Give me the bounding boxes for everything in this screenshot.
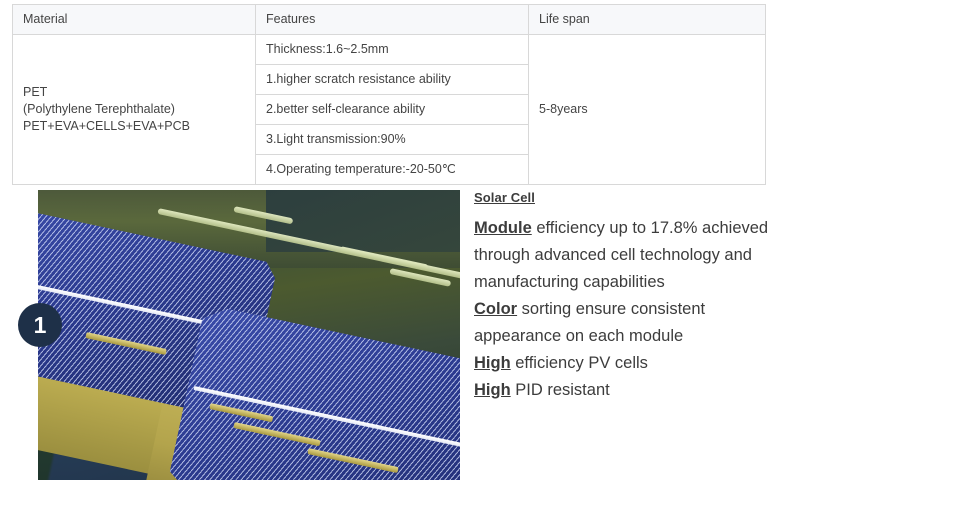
column-header-material: Material — [13, 5, 256, 35]
info-keyword: High — [474, 354, 511, 372]
table-row: PET (Polythylene Terephthalate) PET+EVA+… — [13, 34, 766, 64]
info-text: efficiency PV cells — [511, 354, 648, 372]
photo-background — [38, 190, 460, 480]
column-header-life-span: Life span — [529, 5, 766, 35]
spec-table-container: Material Features Life span PET (Polythy… — [12, 4, 765, 185]
step-number-badge: 1 — [18, 303, 62, 347]
info-line: Color sorting ensure consistent appearan… — [474, 296, 774, 350]
info-text: PID resistant — [511, 381, 610, 399]
cell-material-value: PET (Polythylene Terephthalate) PET+EVA+… — [13, 34, 256, 184]
info-keyword: Module — [474, 219, 532, 237]
solar-cell-info-block: Solar Cell Module efficiency up to 17.8%… — [474, 189, 774, 404]
cell-feature-3: 3.Light transmission:90% — [256, 124, 529, 154]
cell-life-span-value: 5-8years — [529, 34, 766, 184]
info-line: High PID resistant — [474, 377, 774, 404]
info-line: Module efficiency up to 17.8% achieved t… — [474, 215, 774, 296]
info-title: Solar Cell — [474, 190, 535, 205]
info-line: High efficiency PV cells — [474, 350, 774, 377]
info-keyword: High — [474, 381, 511, 399]
cell-feature-0: Thickness:1.6~2.5mm — [256, 34, 529, 64]
cell-feature-1: 1.higher scratch resistance ability — [256, 64, 529, 94]
column-header-features: Features — [256, 5, 529, 35]
info-body: Module efficiency up to 17.8% achieved t… — [474, 215, 774, 404]
solar-cell-photo — [38, 190, 460, 480]
cell-feature-2: 2.better self-clearance ability — [256, 94, 529, 124]
cell-feature-4: 4.Operating temperature:-20-50℃ — [256, 154, 529, 184]
table-header-row: Material Features Life span — [13, 5, 766, 35]
material-spec-table: Material Features Life span PET (Polythy… — [12, 4, 766, 185]
info-keyword: Color — [474, 300, 517, 318]
